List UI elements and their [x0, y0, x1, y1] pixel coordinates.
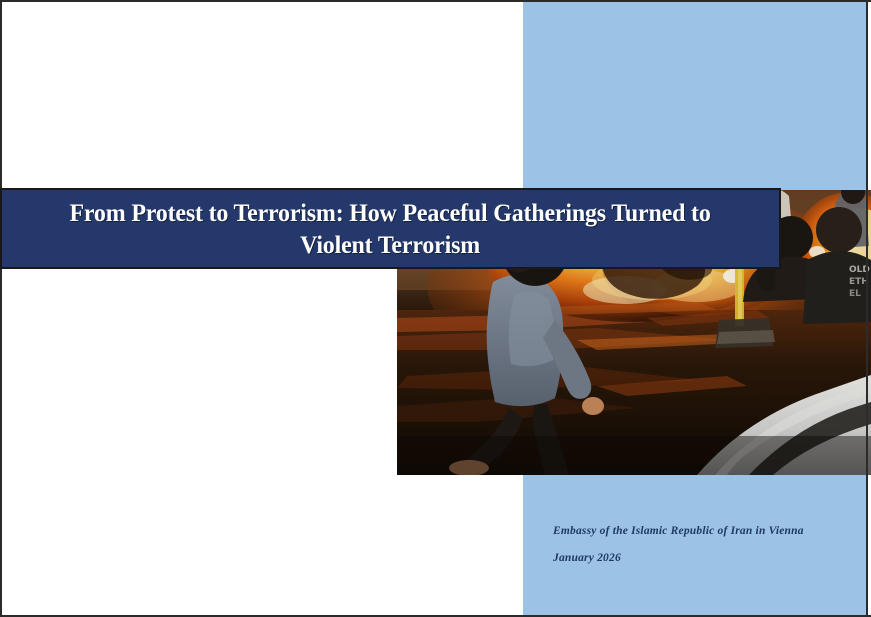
page-title: From Protest to Terrorism: How Peaceful … — [53, 197, 728, 259]
cover-page: OLD ETH EL — [0, 0, 871, 617]
page-border-left — [0, 0, 2, 617]
footer-organization: Embassy of the Islamic Republic of Iran … — [553, 526, 853, 538]
footer-date: January 2026 — [553, 553, 853, 565]
page-border-right — [866, 0, 868, 617]
cover-title-banner: From Protest to Terrorism: How Peaceful … — [0, 188, 781, 269]
cover-footer: Embassy of the Islamic Republic of Iran … — [553, 526, 853, 564]
